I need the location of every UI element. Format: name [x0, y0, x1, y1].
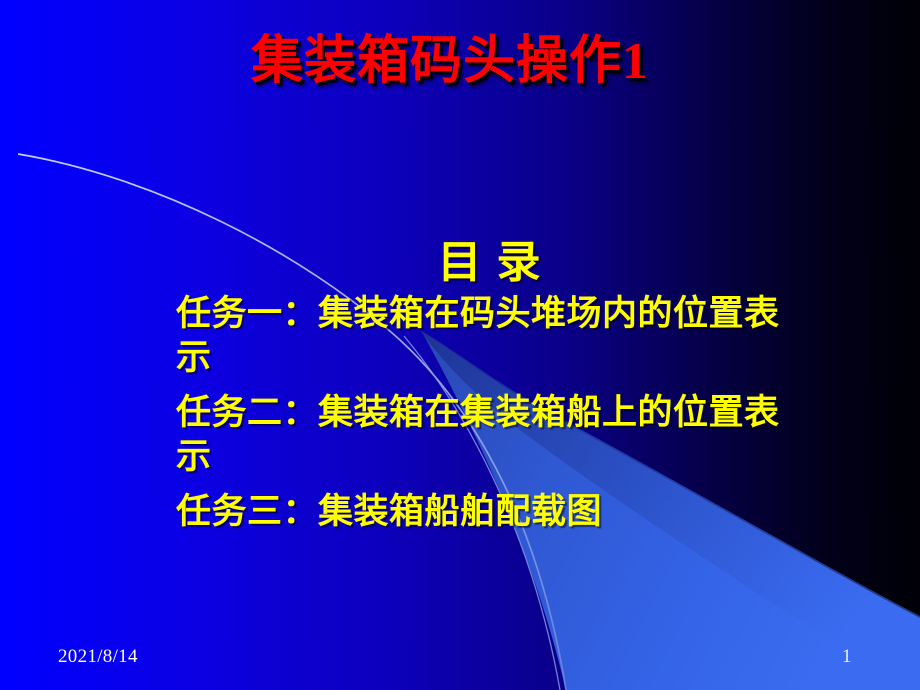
- list-item[interactable]: 任务一：集装箱在码头堆场内的位置表示: [176, 292, 786, 381]
- page-title: 集装箱码头操作1: [0, 18, 920, 93]
- footer-page-number: 1: [842, 646, 852, 668]
- footer-date: 2021/8/14: [58, 646, 138, 668]
- list-item[interactable]: 任务三：集装箱船舶配载图: [176, 490, 786, 534]
- toc-heading: 目 录: [0, 226, 920, 290]
- toc-list: 任务一：集装箱在码头堆场内的位置表示 任务二：集装箱在集装箱船上的位置表示 任务…: [176, 292, 786, 534]
- list-item[interactable]: 任务二：集装箱在集装箱船上的位置表示: [176, 391, 786, 480]
- presentation-slide: 集装箱码头操作1 目 录 任务一：集装箱在码头堆场内的位置表示 任务二：集装箱在…: [0, 0, 920, 690]
